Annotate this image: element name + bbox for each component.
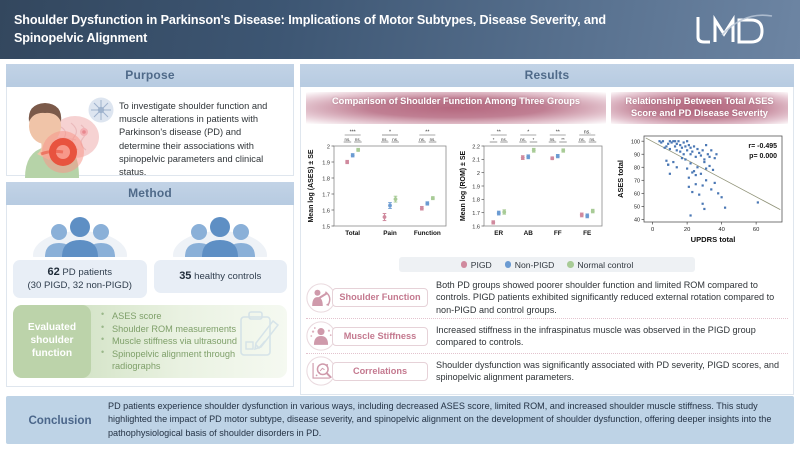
rom-mean-se-chart: 1.61.71.81.922.12.2Mean log (ROM) ± SEER… [458, 126, 610, 256]
svg-text:**: ** [425, 130, 429, 136]
svg-text:*: * [527, 130, 529, 136]
legend-swatch [567, 261, 574, 268]
ases-updrs-correlation-chart: 4050607080901000204060ASES totalUPDRS to… [614, 126, 794, 256]
chart-titles-row: Comparison of Shoulder Function Among Th… [306, 92, 788, 124]
chart-legend: PIGD Non-PIGD Normal control [399, 257, 695, 272]
page-title: Shoulder Dysfunction in Parkinson's Dise… [14, 12, 654, 48]
svg-text:Mean log (ASES) ± SE: Mean log (ASES) ± SE [308, 149, 315, 222]
page-header: Shoulder Dysfunction in Parkinson's Dise… [0, 0, 800, 59]
correlation-chart-title: Relationship Between Total ASES Score an… [611, 92, 788, 124]
method-group-pd: 62 PD patients (30 PIGD, 32 non-PIGD) [13, 211, 147, 298]
svg-text:Total: Total [345, 230, 360, 237]
svg-text:Pain: Pain [383, 230, 397, 237]
svg-text:100: 100 [631, 139, 640, 145]
control-count: 35 [179, 270, 191, 282]
svg-text:60: 60 [634, 192, 640, 198]
legend-swatch [505, 261, 512, 268]
svg-text:**: ** [561, 137, 565, 142]
svg-text:1.7: 1.7 [472, 211, 480, 217]
svg-text:ns.: ns. [345, 137, 351, 142]
svg-text:2: 2 [477, 171, 480, 177]
evaluation-list: ASES score Shoulder ROM measurements Mus… [91, 305, 287, 378]
svg-text:2.1: 2.1 [472, 158, 480, 164]
finding-row: Muscle Stiffness Increased stiffness in … [306, 319, 788, 354]
svg-text:Mean log (ROM) ± SE: Mean log (ROM) ± SE [460, 151, 467, 222]
svg-text:1.6: 1.6 [472, 224, 480, 230]
control-group-icon [154, 211, 288, 257]
svg-text:*: * [389, 130, 391, 136]
svg-text:ns.: ns. [584, 130, 591, 136]
right-column: Results Comparison of Shoulder Function … [300, 64, 794, 395]
method-group-control: 35 healthy controls [154, 211, 288, 298]
finding-text: Shoulder dysfunction was significantly a… [434, 359, 788, 384]
svg-text:ER: ER [494, 230, 503, 237]
list-item: Shoulder ROM measurements [101, 323, 281, 335]
legend-label: Non-PIGD [515, 260, 555, 270]
method-groups: 62 PD patients (30 PIGD, 32 non-PIGD) [13, 211, 287, 298]
svg-text:ns.: ns. [355, 137, 361, 142]
control-label: healthy controls [191, 271, 261, 282]
comparison-chart-title: Comparison of Shoulder Function Among Th… [306, 92, 606, 124]
evaluation-row: Evaluated shoulder function ASES score S… [13, 305, 287, 378]
jmd-journal-logo [696, 13, 782, 47]
svg-text:1.6: 1.6 [322, 208, 330, 214]
svg-text:ns.: ns. [520, 137, 526, 142]
svg-text:1.9: 1.9 [322, 160, 330, 166]
finding-label: Correlations [332, 362, 428, 381]
conclusion-label: Conclusion [12, 414, 108, 427]
svg-text:ASES total: ASES total [616, 160, 625, 198]
pd-label: PD patients [60, 267, 112, 278]
findings-list: Shoulder Function Both PD groups showed … [306, 277, 788, 388]
finding-text: Both PD groups showed poorer shoulder fu… [434, 279, 788, 316]
svg-text:p= 0.000: p= 0.000 [749, 153, 777, 160]
legend-item-non-pigd: Non-PIGD [505, 260, 555, 270]
svg-text:1.5: 1.5 [322, 224, 330, 230]
conclusion-text: PD patients experience shoulder dysfunct… [108, 400, 784, 440]
svg-text:70: 70 [634, 179, 640, 185]
svg-text:50: 50 [634, 205, 640, 211]
purpose-heading: Purpose [6, 64, 294, 87]
results-card: Comparison of Shoulder Function Among Th… [300, 87, 794, 395]
legend-swatch [461, 261, 468, 268]
svg-text:60: 60 [753, 227, 759, 233]
svg-text:2: 2 [327, 144, 330, 150]
svg-text:90: 90 [634, 152, 640, 158]
svg-text:FF: FF [554, 230, 562, 237]
pd-sublabel: (30 PIGD, 32 non-PIGD) [27, 280, 132, 291]
svg-text:ns.: ns. [579, 137, 585, 142]
charts-row: 1.51.61.71.81.92Mean log (ASES) ± SETota… [306, 126, 788, 256]
svg-text:0: 0 [651, 227, 654, 233]
graphical-abstract-page: Shoulder Dysfunction in Parkinson's Dise… [0, 0, 800, 450]
svg-text:r= -0.495: r= -0.495 [748, 143, 777, 150]
svg-text:1.8: 1.8 [322, 176, 330, 182]
svg-text:ns.: ns. [419, 137, 425, 142]
method-card: 62 PD patients (30 PIGD, 32 non-PIGD) [6, 205, 294, 387]
conclusion-panel: Conclusion PD patients experience should… [6, 396, 794, 444]
svg-text:1.7: 1.7 [322, 192, 330, 198]
results-heading: Results [300, 64, 794, 87]
svg-text:ns.: ns. [550, 137, 556, 142]
svg-text:40: 40 [718, 227, 724, 233]
purpose-illustration [11, 94, 119, 167]
purpose-text: To investigate shoulder function and mus… [119, 94, 285, 167]
svg-text:ns.: ns. [392, 137, 398, 142]
left-column: Purpose [6, 64, 294, 387]
finding-text: Increased stiffness in the infraspinatus… [434, 324, 788, 349]
svg-text:ns.: ns. [590, 137, 596, 142]
svg-text:2.2: 2.2 [472, 144, 480, 150]
svg-text:Function: Function [414, 230, 441, 237]
svg-text:AB: AB [524, 230, 534, 237]
method-heading: Method [6, 182, 294, 205]
svg-text:20: 20 [684, 227, 690, 233]
purpose-card: To investigate shoulder function and mus… [6, 87, 294, 176]
svg-text:UPDRS total: UPDRS total [691, 235, 736, 244]
finding-label: Shoulder Function [332, 288, 428, 307]
svg-text:40: 40 [634, 218, 640, 224]
list-item: Spinopelvic alignment through radiograph… [101, 348, 281, 372]
svg-text:1.8: 1.8 [472, 198, 480, 204]
list-item: ASES score [101, 310, 281, 322]
patient-group-icon [13, 211, 147, 257]
svg-text:ns.: ns. [501, 137, 507, 142]
finding-row: Shoulder Function Both PD groups showed … [306, 277, 788, 319]
svg-text:ns.: ns. [430, 137, 436, 142]
svg-text:**: ** [556, 130, 560, 136]
finding-label: Muscle Stiffness [332, 327, 428, 346]
evaluation-label: Evaluated shoulder function [13, 305, 91, 378]
legend-item-pigd: PIGD [461, 260, 492, 270]
svg-text:ns.: ns. [382, 137, 388, 142]
svg-text:*: * [533, 137, 535, 142]
svg-text:FE: FE [583, 230, 592, 237]
finding-row: Correlations Shoulder dysfunction was si… [306, 354, 788, 388]
pd-group-box: 62 PD patients (30 PIGD, 32 non-PIGD) [13, 260, 147, 298]
control-group-box: 35 healthy controls [154, 260, 288, 293]
svg-text:80: 80 [634, 166, 640, 172]
svg-text:***: *** [350, 130, 356, 136]
ases-mean-se-chart: 1.51.61.71.81.92Mean log (ASES) ± SETota… [306, 126, 454, 256]
pd-count: 62 [47, 266, 59, 278]
svg-text:**: ** [497, 130, 501, 136]
svg-text:*: * [493, 137, 495, 142]
legend-label: PIGD [471, 260, 492, 270]
legend-item-normal-control: Normal control [567, 260, 633, 270]
svg-text:1.9: 1.9 [472, 184, 480, 190]
legend-label: Normal control [577, 260, 633, 270]
list-item: Muscle stiffness via ultrasound [101, 335, 281, 347]
